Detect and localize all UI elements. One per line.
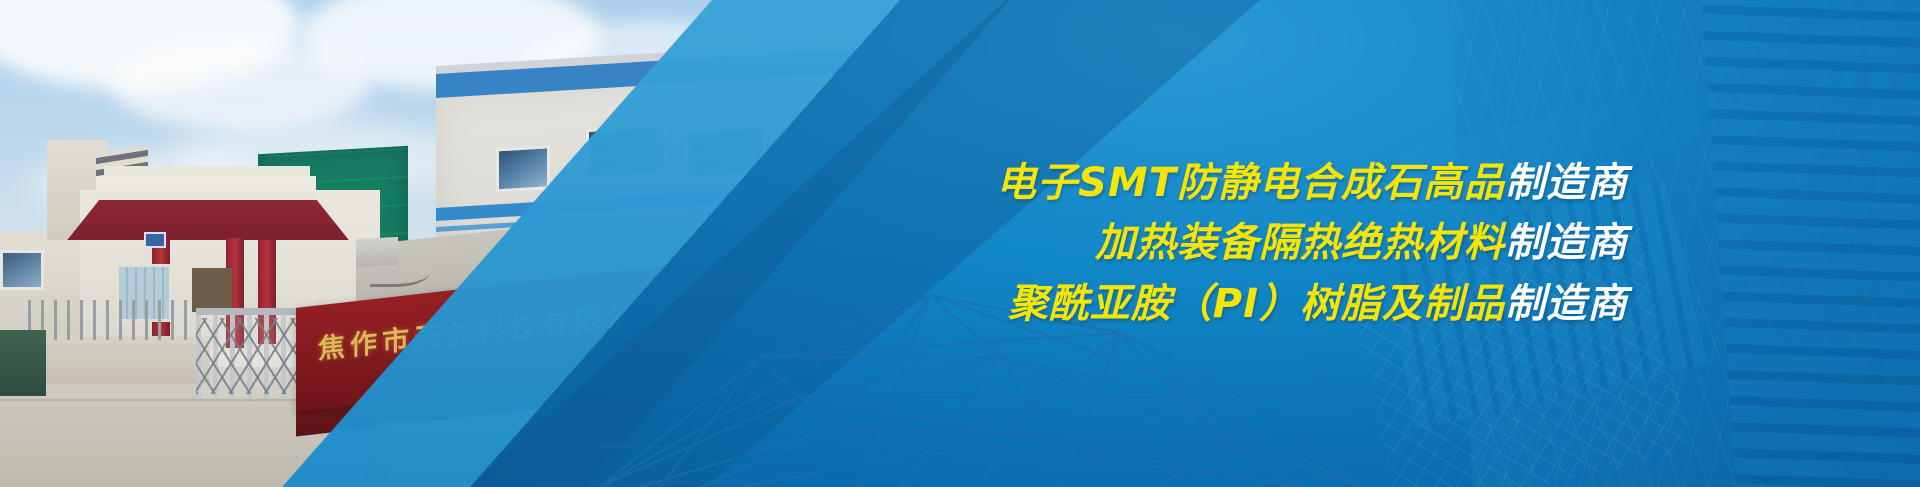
hero-banner: 焦作市天益科技有限公司 bbox=[0, 0, 1920, 487]
headline-1-highlight: 电子SMT防静电合成石高品 bbox=[996, 160, 1505, 206]
headline-3-suffix: 制造商 bbox=[1505, 281, 1628, 327]
headline-3-highlight: 聚酰亚胺（PI）树脂及制品 bbox=[1008, 281, 1505, 327]
headline-line-1: 电子SMT防静电合成石高品制造商 bbox=[996, 162, 1628, 204]
headline-1-suffix: 制造商 bbox=[1505, 160, 1628, 206]
headline-2-highlight: 加热装备隔热绝热材料 bbox=[1095, 220, 1505, 266]
headline-line-3: 聚酰亚胺（PI）树脂及制品制造商 bbox=[1008, 283, 1628, 325]
headline-line-2: 加热装备隔热绝热材料制造商 bbox=[1095, 222, 1628, 264]
headline-2-suffix: 制造商 bbox=[1505, 220, 1628, 266]
headline-stack: 电子SMT防静电合成石高品制造商 加热装备隔热绝热材料制造商 聚酰亚胺（PI）树… bbox=[0, 0, 1920, 487]
